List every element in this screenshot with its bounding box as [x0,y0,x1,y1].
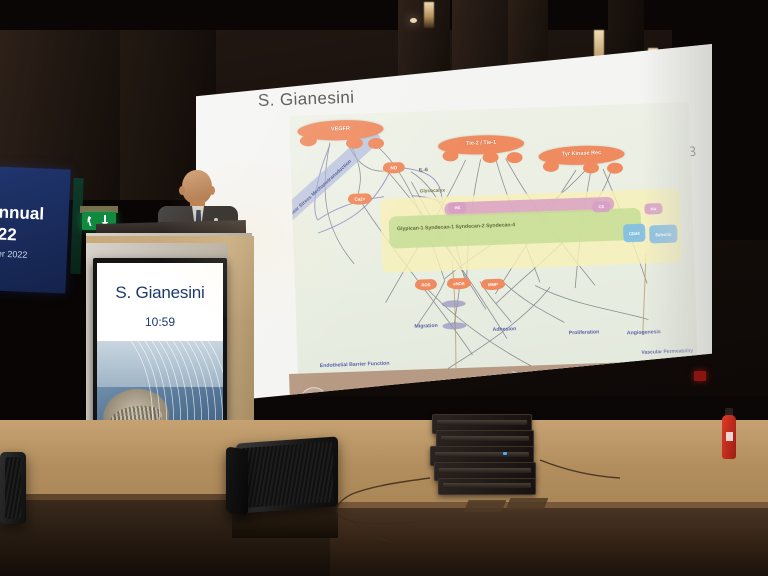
screen-content: S. Gianesini 11:03 [196,44,712,404]
receptor-foot [583,162,599,174]
mediator-node: Ca2+ [348,193,372,205]
output-node-label: MMP [481,279,505,291]
floor-cables [0,420,768,576]
cable-mat [464,500,507,512]
monitor-speaker-name: S. Gianesini [97,283,223,303]
glycocalyx-diagram: Shear Stress Mechanotransduction VEGFR T… [289,102,698,386]
speaker-ear [179,186,185,195]
receptor-node: Tyr Kinase Rec [538,144,625,177]
glycan-chip-label: CS [592,201,610,213]
mediator-label: Ca2+ [348,193,372,205]
slide-body: Shear Stress Mechanotransduction VEGFR T… [289,102,698,386]
wall-top-shadow [0,0,768,30]
glycan-chip-label: HA [644,203,662,215]
il6-label: IL-6 [419,167,428,173]
banner-line-3: er 2022 [0,249,28,260]
receptor-foot [442,150,458,162]
output-node: ROS [415,279,437,291]
receptor-node: Tie-2 / Tie-1 [438,134,525,167]
receptor-foot [506,152,522,164]
glycocalyx-label: Glycocalyx [420,189,446,195]
monitor-elapsed-time: 10:59 [97,315,223,329]
outcome-label: Migration [414,323,438,330]
wall-light-slit [424,2,434,28]
speaker-ear [209,186,215,195]
selectin-label: Selectin [649,225,678,244]
receptor-foot [368,138,384,150]
cable-mat [506,498,549,510]
banner-line-1: nnual [0,203,44,225]
receptor-foot [543,161,559,173]
selectin-chip: Selectin [649,225,678,244]
output-node: MMP [481,279,505,291]
mediator-node: NO [383,162,405,174]
receptor-node: VEGFR [297,119,384,152]
output-node: eNOS [447,278,471,290]
glycan-chip-label: HS [448,202,466,214]
mediator-label: NO [383,162,405,174]
receptor-foot [607,162,623,174]
exit-indicator-light [694,371,706,381]
extinguisher-label [726,432,733,441]
projection-screen: S. Gianesini 11:03 [196,44,712,404]
outcome-label: Angiogenesis [627,329,661,336]
output-node-label: eNOS [447,278,471,290]
banner-line-2: 22 [0,225,17,246]
outcome-label: Proliferation [569,329,600,336]
event-banner: nnual 22 er 2022 [0,166,71,293]
receptor-foot [346,137,363,149]
glycan-chip: HA [644,203,662,215]
cd44-label: CD44 [623,224,646,243]
receptor-foot [300,135,317,147]
speaker-head [182,170,212,204]
cd44-chip: CD44 [623,224,646,243]
glycan-chip: HS [448,202,466,214]
output-node-label: ROS [415,279,437,291]
receptor-foot [482,152,498,164]
slide-author-label: S. Gianesini [258,88,355,111]
outcome-label: Adhesion [492,326,516,333]
presentation-photo: S. Gianesini 11:03 [0,0,768,576]
glycan-chip: CS [592,201,610,213]
ceiling-light [410,18,417,23]
